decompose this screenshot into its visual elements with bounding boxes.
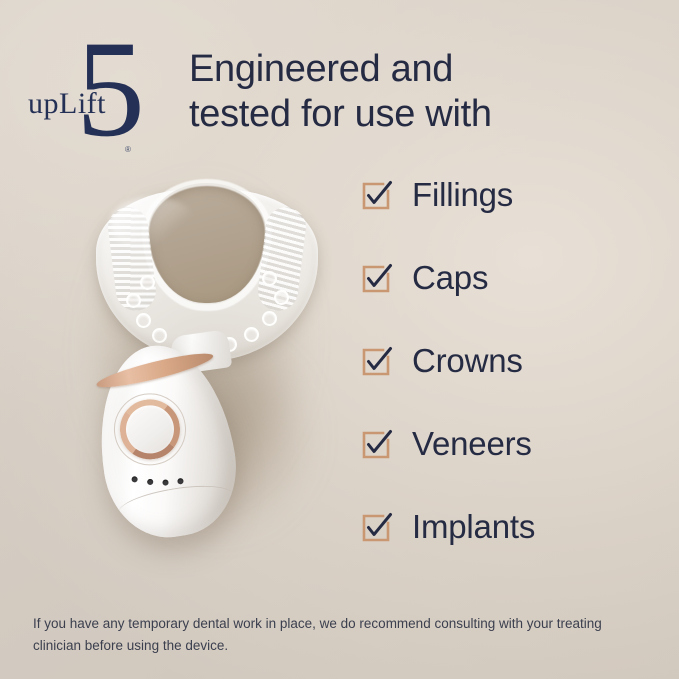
- led-nub: [140, 275, 155, 290]
- registered-trademark-icon: ®: [125, 146, 131, 154]
- checkbox-checked-icon[interactable]: [362, 514, 390, 542]
- led-nub: [136, 313, 151, 328]
- brand-wordmark: upLift: [28, 89, 106, 119]
- compatibility-checklist: Fillings Caps Crowns: [362, 178, 652, 593]
- product-feature-image: 5 upLift ® Engineered and tested for use…: [0, 0, 679, 679]
- checkbox-checked-icon[interactable]: [362, 265, 390, 293]
- led-nub: [274, 290, 289, 305]
- checklist-item-label: Implants: [412, 510, 535, 543]
- checklist-item-label: Caps: [412, 261, 488, 294]
- checkbox-checked-icon[interactable]: [362, 182, 390, 210]
- checklist-item-label: Fillings: [412, 178, 513, 211]
- page-title: Engineered and tested for use with: [189, 47, 609, 137]
- checklist-item-implants[interactable]: Implants: [362, 510, 652, 593]
- led-nub: [152, 328, 167, 343]
- checklist-item-fillings[interactable]: Fillings: [362, 178, 652, 261]
- checklist-item-label: Crowns: [412, 344, 523, 377]
- led-nub: [262, 311, 277, 326]
- led-nub: [244, 327, 259, 342]
- checklist-item-label: Veneers: [412, 427, 532, 460]
- checklist-item-veneers[interactable]: Veneers: [362, 427, 652, 510]
- checklist-item-crowns[interactable]: Crowns: [362, 344, 652, 427]
- checkbox-checked-icon[interactable]: [362, 348, 390, 376]
- tray-highlight: [110, 197, 196, 251]
- led-nub: [262, 271, 277, 286]
- led-nub: [126, 293, 141, 308]
- disclaimer-text: If you have any temporary dental work in…: [33, 613, 643, 657]
- brand-logo: 5 upLift ®: [24, 36, 174, 148]
- checklist-item-caps[interactable]: Caps: [362, 261, 652, 344]
- checkbox-checked-icon[interactable]: [362, 431, 390, 459]
